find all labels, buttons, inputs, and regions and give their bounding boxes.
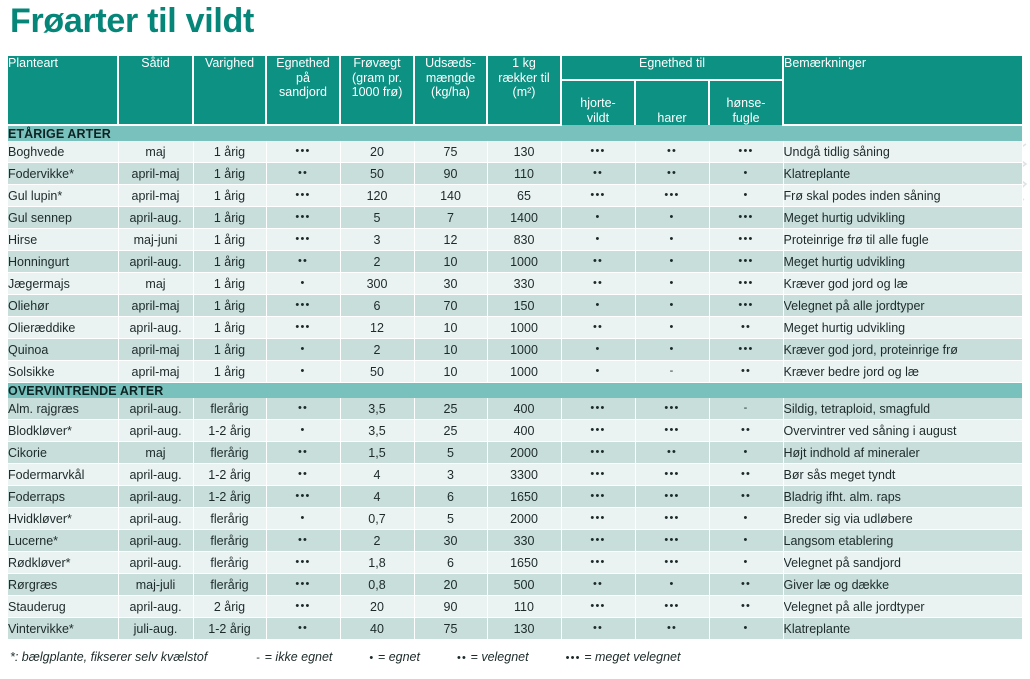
legend-symbol-3: ••• <box>566 652 581 664</box>
cell-harer-rating: ••• <box>664 490 679 502</box>
cell-kg-raekker: 400 <box>487 420 561 442</box>
cell-satid: april-maj <box>118 185 193 207</box>
cell-honsefugle-rating: •• <box>741 424 751 436</box>
cell-satid: april-aug. <box>118 317 193 339</box>
cell-varighed: 1-2 årig <box>193 420 266 442</box>
cell-harer-rating: • <box>669 578 674 590</box>
cell-honsefugle-rating: ••• <box>738 233 753 245</box>
cell-egnethed-sandjord: • <box>266 361 340 383</box>
cell-harer: • <box>635 574 709 596</box>
cell-bemaerkninger: Giver læ og dække <box>783 574 1022 596</box>
cell-honsefugle: •• <box>709 486 783 508</box>
col-header-udsaeds-l2: mængde <box>426 71 475 85</box>
cell-udsaedsmaengde: 70 <box>414 295 487 317</box>
cell-planteart: Honningurt <box>8 251 118 273</box>
cell-planteart: Alm. rajgræs <box>8 398 118 420</box>
cell-honsefugle: ••• <box>709 141 783 163</box>
cell-varighed: flerårig <box>193 574 266 596</box>
cell-hjortevildt-rating: •• <box>593 255 603 267</box>
col-header-egnethed-sandjord-l2: på <box>296 71 310 85</box>
cell-bemaerkninger: Velegnet på sandjord <box>783 552 1022 574</box>
cell-kg-raekker: 1650 <box>487 552 561 574</box>
cell-hjortevildt-rating: ••• <box>590 534 605 546</box>
cell-honsefugle: - <box>709 398 783 420</box>
cell-varighed: 1 årig <box>193 295 266 317</box>
cell-harer-rating: ••• <box>664 534 679 546</box>
cell-varighed: 1-2 årig <box>193 464 266 486</box>
cell-honsefugle: ••• <box>709 251 783 273</box>
legend-symbol-1: • <box>369 652 374 664</box>
table-row: Olieræddikeapril-aug.1 årig•••12101000••… <box>8 317 1022 339</box>
cell-hjortevildt: • <box>561 339 635 361</box>
cell-frovaegt: 5 <box>340 207 414 229</box>
cell-hjortevildt-rating: •• <box>593 321 603 333</box>
cell-bemaerkninger: Klatreplante <box>783 618 1022 640</box>
cell-honsefugle: •• <box>709 596 783 618</box>
cell-honsefugle: • <box>709 185 783 207</box>
cell-harer-rating: ••• <box>664 512 679 524</box>
cell-harer: • <box>635 251 709 273</box>
cell-egnethed-sandjord-rating: •• <box>298 468 308 480</box>
section-header-row: ETÅRIGE ARTER <box>8 125 1022 141</box>
cell-hjortevildt-rating: ••• <box>590 402 605 414</box>
cell-satid: april-maj <box>118 163 193 185</box>
cell-hjortevildt-rating: ••• <box>590 556 605 568</box>
cell-bemaerkninger: Overvintrer ved såning i august <box>783 420 1022 442</box>
cell-harer: • <box>635 273 709 295</box>
cell-udsaedsmaengde: 10 <box>414 361 487 383</box>
cell-harer: ••• <box>635 508 709 530</box>
col-header-egnethed-til: Egnethed til <box>561 56 783 80</box>
cell-varighed: 1 årig <box>193 361 266 383</box>
cell-harer-rating: ••• <box>664 424 679 436</box>
cell-harer-rating: ••• <box>664 402 679 414</box>
cell-satid: april-maj <box>118 339 193 361</box>
cell-harer-rating: ••• <box>664 468 679 480</box>
cell-bemaerkninger: Meget hurtig udvikling <box>783 317 1022 339</box>
cell-udsaedsmaengde: 3 <box>414 464 487 486</box>
cell-harer-rating: ••• <box>664 600 679 612</box>
cell-udsaedsmaengde: 5 <box>414 442 487 464</box>
col-header-frovaegt-l3: 1000 frø) <box>352 85 403 99</box>
cell-egnethed-sandjord: ••• <box>266 596 340 618</box>
cell-kg-raekker: 2000 <box>487 508 561 530</box>
col-header-honsefugle: hønse- fugle <box>709 80 783 126</box>
cell-frovaegt: 6 <box>340 295 414 317</box>
cell-satid: april-aug. <box>118 420 193 442</box>
cell-udsaedsmaengde: 25 <box>414 420 487 442</box>
cell-varighed: 1 årig <box>193 317 266 339</box>
cell-varighed: 1 årig <box>193 251 266 273</box>
cell-egnethed-sandjord: ••• <box>266 185 340 207</box>
cell-hjortevildt-rating: • <box>595 343 600 355</box>
table-row: Vintervikke*juli-aug.1-2 årig••4075130••… <box>8 618 1022 640</box>
table-row: Hvidkløver*april-aug.flerårig•0,752000••… <box>8 508 1022 530</box>
cell-udsaedsmaengde: 90 <box>414 596 487 618</box>
cell-frovaegt: 20 <box>340 596 414 618</box>
cell-frovaegt: 3 <box>340 229 414 251</box>
cell-frovaegt: 2 <box>340 339 414 361</box>
cell-hjortevildt: ••• <box>561 552 635 574</box>
cell-hjortevildt-rating: • <box>595 233 600 245</box>
cell-planteart: Oliehør <box>8 295 118 317</box>
table-row: Fodermarvkålapril-aug.1-2 årig••433300••… <box>8 464 1022 486</box>
cell-kg-raekker: 330 <box>487 273 561 295</box>
cell-planteart: Hirse <box>8 229 118 251</box>
cell-udsaedsmaengde: 10 <box>414 317 487 339</box>
cell-honsefugle: •• <box>709 464 783 486</box>
cell-honsefugle-rating: • <box>743 556 748 568</box>
cell-hjortevildt-rating: ••• <box>590 189 605 201</box>
cell-udsaedsmaengde: 6 <box>414 486 487 508</box>
cell-planteart: Gul sennep <box>8 207 118 229</box>
cell-frovaegt: 3,5 <box>340 398 414 420</box>
cell-honsefugle-rating: •• <box>741 468 751 480</box>
cell-hjortevildt-rating: •• <box>593 277 603 289</box>
cell-planteart: Stauderug <box>8 596 118 618</box>
cell-harer: • <box>635 207 709 229</box>
cell-planteart: Blodkløver* <box>8 420 118 442</box>
cell-varighed: flerårig <box>193 442 266 464</box>
cell-honsefugle: • <box>709 442 783 464</box>
cell-kg-raekker: 150 <box>487 295 561 317</box>
cell-honsefugle: •• <box>709 574 783 596</box>
cell-satid: april-maj <box>118 295 193 317</box>
cell-egnethed-sandjord-rating: ••• <box>295 189 310 201</box>
cell-harer-rating: •• <box>667 622 677 634</box>
cell-honsefugle: • <box>709 163 783 185</box>
cell-hjortevildt: •• <box>561 251 635 273</box>
cell-harer: ••• <box>635 486 709 508</box>
cell-bemaerkninger: Velegnet på alle jordtyper <box>783 596 1022 618</box>
cell-egnethed-sandjord: •• <box>266 251 340 273</box>
cell-egnethed-sandjord: • <box>266 273 340 295</box>
cell-udsaedsmaengde: 7 <box>414 207 487 229</box>
cell-varighed: flerårig <box>193 552 266 574</box>
cell-planteart: Fodermarvkål <box>8 464 118 486</box>
col-header-frovaegt-l2: (gram pr. <box>352 71 402 85</box>
section-header-row: OVERVINTRENDE ARTER <box>8 383 1022 399</box>
cell-kg-raekker: 110 <box>487 596 561 618</box>
cell-satid: maj-juni <box>118 229 193 251</box>
cell-bemaerkninger: Klatreplante <box>783 163 1022 185</box>
table-row: Hirsemaj-juni1 årig•••312830•••••Protein… <box>8 229 1022 251</box>
cell-kg-raekker: 830 <box>487 229 561 251</box>
table-header: Planteart Såtid Varighed Egnethed på san… <box>8 56 1022 125</box>
cell-kg-raekker: 1000 <box>487 339 561 361</box>
table-row: Foderrapsapril-aug.1-2 årig•••461650••••… <box>8 486 1022 508</box>
cell-kg-raekker: 1000 <box>487 251 561 273</box>
cell-hjortevildt: • <box>561 361 635 383</box>
cell-planteart: Solsikke <box>8 361 118 383</box>
table-body: ETÅRIGE ARTERBoghvedemaj1 årig•••2075130… <box>8 125 1022 640</box>
col-header-harer: harer <box>635 80 709 126</box>
cell-egnethed-sandjord: ••• <box>266 574 340 596</box>
cell-hjortevildt: •• <box>561 618 635 640</box>
cell-udsaedsmaengde: 90 <box>414 163 487 185</box>
cell-hjortevildt-rating: •• <box>593 167 603 179</box>
col-header-udsaeds-l3: (kg/ha) <box>431 85 470 99</box>
table-row: Cikoriemajflerårig••1,552000••••••Højt i… <box>8 442 1022 464</box>
cell-planteart: Olieræddike <box>8 317 118 339</box>
col-header-planteart: Planteart <box>8 56 118 125</box>
cell-bemaerkninger: Breder sig via udløbere <box>783 508 1022 530</box>
cell-harer-rating: • <box>669 299 674 311</box>
cell-harer: ••• <box>635 552 709 574</box>
cell-honsefugle-rating: ••• <box>738 299 753 311</box>
table-row: Blodkløver*april-aug.1-2 årig•3,525400••… <box>8 420 1022 442</box>
cell-udsaedsmaengde: 6 <box>414 552 487 574</box>
cell-frovaegt: 1,5 <box>340 442 414 464</box>
col-header-satid: Såtid <box>118 56 193 125</box>
cell-satid: maj <box>118 141 193 163</box>
table-row: Stauderugapril-aug.2 årig•••2090110•••••… <box>8 596 1022 618</box>
table-row: Alm. rajgræsapril-aug.flerårig••3,525400… <box>8 398 1022 420</box>
cell-planteart: Rørgræs <box>8 574 118 596</box>
cell-hjortevildt: •• <box>561 163 635 185</box>
cell-hjortevildt-rating: ••• <box>590 600 605 612</box>
table-row: Jægermajsmaj1 årig•30030330••••••Kræver … <box>8 273 1022 295</box>
table-row: Fodervikke*april-maj1 årig••5090110•••••… <box>8 163 1022 185</box>
cell-honsefugle-rating: • <box>743 512 748 524</box>
table-row: Honningurtapril-aug.1 årig••2101000•••••… <box>8 251 1022 273</box>
table-row: Quinoaapril-maj1 årig•2101000•••••Kræver… <box>8 339 1022 361</box>
cell-satid: maj <box>118 273 193 295</box>
cell-harer-rating: • <box>669 343 674 355</box>
cell-frovaegt: 20 <box>340 141 414 163</box>
cell-egnethed-sandjord-rating: •• <box>298 402 308 414</box>
cell-frovaegt: 3,5 <box>340 420 414 442</box>
cell-planteart: Cikorie <box>8 442 118 464</box>
cell-egnethed-sandjord: ••• <box>266 229 340 251</box>
cell-udsaedsmaengde: 20 <box>414 574 487 596</box>
cell-hjortevildt-rating: ••• <box>590 446 605 458</box>
cell-harer: • <box>635 317 709 339</box>
cell-harer-rating: •• <box>667 145 677 157</box>
cell-bemaerkninger: Kræver god jord, proteinrige frø <box>783 339 1022 361</box>
cell-egnethed-sandjord: •• <box>266 464 340 486</box>
cell-harer: ••• <box>635 185 709 207</box>
cell-hjortevildt-rating: • <box>595 299 600 311</box>
table-row: Gul lupin*april-maj1 årig•••12014065••••… <box>8 185 1022 207</box>
cell-hjortevildt-rating: ••• <box>590 512 605 524</box>
cell-hjortevildt-rating: ••• <box>590 424 605 436</box>
cell-egnethed-sandjord: • <box>266 339 340 361</box>
cell-egnethed-sandjord-rating: ••• <box>295 211 310 223</box>
cell-frovaegt: 40 <box>340 618 414 640</box>
cell-kg-raekker: 2000 <box>487 442 561 464</box>
cell-hjortevildt: •• <box>561 273 635 295</box>
cell-hjortevildt-rating: • <box>595 211 600 223</box>
cell-frovaegt: 50 <box>340 361 414 383</box>
cell-hjortevildt: ••• <box>561 464 635 486</box>
cell-egnethed-sandjord: •• <box>266 163 340 185</box>
cell-egnethed-sandjord-rating: • <box>300 512 305 524</box>
cell-kg-raekker: 65 <box>487 185 561 207</box>
cell-planteart: Gul lupin* <box>8 185 118 207</box>
col-header-kg-raekker: 1 kg rækker til (m²) <box>487 56 561 125</box>
cell-harer: ••• <box>635 530 709 552</box>
cell-honsefugle: •• <box>709 317 783 339</box>
cell-frovaegt: 4 <box>340 464 414 486</box>
col-header-frovaegt: Frøvægt (gram pr. 1000 frø) <box>340 56 414 125</box>
legend-symbol-0: - <box>256 652 261 664</box>
cell-frovaegt: 50 <box>340 163 414 185</box>
cell-harer: •• <box>635 618 709 640</box>
cell-bemaerkninger: Meget hurtig udvikling <box>783 207 1022 229</box>
cell-egnethed-sandjord-rating: •• <box>298 534 308 546</box>
cell-kg-raekker: 130 <box>487 141 561 163</box>
cell-egnethed-sandjord-rating: • <box>300 343 305 355</box>
cell-bemaerkninger: Kræver god jord og læ <box>783 273 1022 295</box>
cell-varighed: flerårig <box>193 508 266 530</box>
page-title: Frøarter til vildt <box>10 0 254 44</box>
cell-satid: april-maj <box>118 361 193 383</box>
cell-egnethed-sandjord-rating: ••• <box>295 233 310 245</box>
cell-udsaedsmaengde: 30 <box>414 530 487 552</box>
cell-harer-rating: • <box>669 321 674 333</box>
cell-egnethed-sandjord-rating: ••• <box>295 556 310 568</box>
cell-varighed: 1 årig <box>193 185 266 207</box>
cell-varighed: 1 årig <box>193 163 266 185</box>
cell-honsefugle: •• <box>709 361 783 383</box>
col-header-honsefugle-l1: hønse- <box>727 96 766 110</box>
cell-bemaerkninger: Bør sås meget tyndt <box>783 464 1022 486</box>
cell-honsefugle-rating: • <box>743 446 748 458</box>
cell-kg-raekker: 1000 <box>487 361 561 383</box>
cell-satid: maj <box>118 442 193 464</box>
cell-varighed: 1 årig <box>193 207 266 229</box>
cell-bemaerkninger: Bladrig ifht. alm. raps <box>783 486 1022 508</box>
cell-planteart: Rødkløver* <box>8 552 118 574</box>
cell-hjortevildt-rating: •• <box>593 622 603 634</box>
legend: *: bælgplante, fikserer selv kvælstof - … <box>10 650 680 664</box>
cell-egnethed-sandjord: ••• <box>266 552 340 574</box>
cell-honsefugle: •• <box>709 420 783 442</box>
cell-egnethed-sandjord: • <box>266 508 340 530</box>
cell-harer-rating: ••• <box>664 189 679 201</box>
cell-satid: april-aug. <box>118 398 193 420</box>
legend-text-2: = velegnet <box>471 650 529 664</box>
cell-satid: maj-juli <box>118 574 193 596</box>
cell-udsaedsmaengde: 10 <box>414 251 487 273</box>
cell-egnethed-sandjord: • <box>266 420 340 442</box>
cell-hjortevildt: • <box>561 295 635 317</box>
cell-egnethed-sandjord: ••• <box>266 486 340 508</box>
cell-egnethed-sandjord-rating: •• <box>298 167 308 179</box>
cell-hjortevildt-rating: ••• <box>590 145 605 157</box>
cell-egnethed-sandjord-rating: •• <box>298 622 308 634</box>
cell-honsefugle-rating: • <box>743 167 748 179</box>
cell-honsefugle-rating: • <box>743 534 748 546</box>
section-header-label: OVERVINTRENDE ARTER <box>8 383 1022 399</box>
cell-honsefugle-rating: - <box>744 402 749 414</box>
cell-varighed: 1-2 årig <box>193 486 266 508</box>
cell-varighed: 2 årig <box>193 596 266 618</box>
cell-satid: april-aug. <box>118 596 193 618</box>
cell-varighed: 1 årig <box>193 141 266 163</box>
cell-harer-rating: • <box>669 255 674 267</box>
col-header-honsefugle-l2: fugle <box>732 111 759 125</box>
cell-egnethed-sandjord-rating: • <box>300 365 305 377</box>
cell-frovaegt: 4 <box>340 486 414 508</box>
cell-udsaedsmaengde: 12 <box>414 229 487 251</box>
legend-symbol-2: •• <box>457 652 467 664</box>
cell-planteart: Boghvede <box>8 141 118 163</box>
cell-udsaedsmaengde: 25 <box>414 398 487 420</box>
col-header-hjortevildt-l2: vildt <box>587 111 609 125</box>
cell-frovaegt: 300 <box>340 273 414 295</box>
cell-kg-raekker: 500 <box>487 574 561 596</box>
cell-egnethed-sandjord: •• <box>266 442 340 464</box>
cell-egnethed-sandjord-rating: ••• <box>295 145 310 157</box>
cell-harer: • <box>635 229 709 251</box>
cell-bemaerkninger: Kræver bedre jord og læ <box>783 361 1022 383</box>
col-header-udsaedsmaengde: Udsæds- mængde (kg/ha) <box>414 56 487 125</box>
cell-hjortevildt-rating: ••• <box>590 490 605 502</box>
cell-harer-rating: •• <box>667 446 677 458</box>
cell-varighed: flerårig <box>193 530 266 552</box>
col-header-hjortevildt: hjorte- vildt <box>561 80 635 126</box>
cell-udsaedsmaengde: 30 <box>414 273 487 295</box>
cell-bemaerkninger: Undgå tidlig såning <box>783 141 1022 163</box>
table-row: Solsikkeapril-maj1 årig•50101000•-••Kræv… <box>8 361 1022 383</box>
cell-hjortevildt-rating: • <box>595 365 600 377</box>
cell-honsefugle-rating: •• <box>741 490 751 502</box>
cell-satid: april-aug. <box>118 552 193 574</box>
cell-kg-raekker: 1000 <box>487 317 561 339</box>
cell-bemaerkninger: Meget hurtig udvikling <box>783 251 1022 273</box>
cell-bemaerkninger: Langsom etablering <box>783 530 1022 552</box>
cell-egnethed-sandjord-rating: ••• <box>295 490 310 502</box>
cell-honsefugle: ••• <box>709 273 783 295</box>
cell-planteart: Vintervikke* <box>8 618 118 640</box>
cell-harer-rating: - <box>670 365 675 377</box>
cell-honsefugle-rating: • <box>743 622 748 634</box>
cell-udsaedsmaengde: 5 <box>414 508 487 530</box>
cell-honsefugle-rating: •• <box>741 365 751 377</box>
cell-kg-raekker: 110 <box>487 163 561 185</box>
cell-egnethed-sandjord: •• <box>266 398 340 420</box>
cell-udsaedsmaengde: 140 <box>414 185 487 207</box>
legend-text-0: = ikke egnet <box>265 650 333 664</box>
table-row: Lucerne*april-aug.flerårig••230330••••••… <box>8 530 1022 552</box>
cell-honsefugle: • <box>709 618 783 640</box>
cell-honsefugle: • <box>709 530 783 552</box>
table-row: Boghvedemaj1 årig•••2075130••••••••Undgå… <box>8 141 1022 163</box>
cell-kg-raekker: 1400 <box>487 207 561 229</box>
cell-udsaedsmaengde: 10 <box>414 339 487 361</box>
cell-frovaegt: 1,8 <box>340 552 414 574</box>
cell-harer-rating: • <box>669 233 674 245</box>
cell-harer: •• <box>635 442 709 464</box>
cell-satid: april-aug. <box>118 251 193 273</box>
cell-hjortevildt: •• <box>561 317 635 339</box>
cell-planteart: Foderraps <box>8 486 118 508</box>
legend-text-3: = meget velegnet <box>584 650 680 664</box>
cell-kg-raekker: 1650 <box>487 486 561 508</box>
cell-egnethed-sandjord-rating: • <box>300 277 305 289</box>
col-header-varighed: Varighed <box>193 56 266 125</box>
col-header-egnethed-sandjord-l3: sandjord <box>279 85 327 99</box>
cell-honsefugle-rating: ••• <box>738 211 753 223</box>
cell-honsefugle-rating: ••• <box>738 145 753 157</box>
cell-hjortevildt: ••• <box>561 530 635 552</box>
cell-honsefugle: • <box>709 508 783 530</box>
cell-varighed: 1 årig <box>193 339 266 361</box>
cell-harer-rating: ••• <box>664 556 679 568</box>
cell-egnethed-sandjord-rating: •• <box>298 255 308 267</box>
